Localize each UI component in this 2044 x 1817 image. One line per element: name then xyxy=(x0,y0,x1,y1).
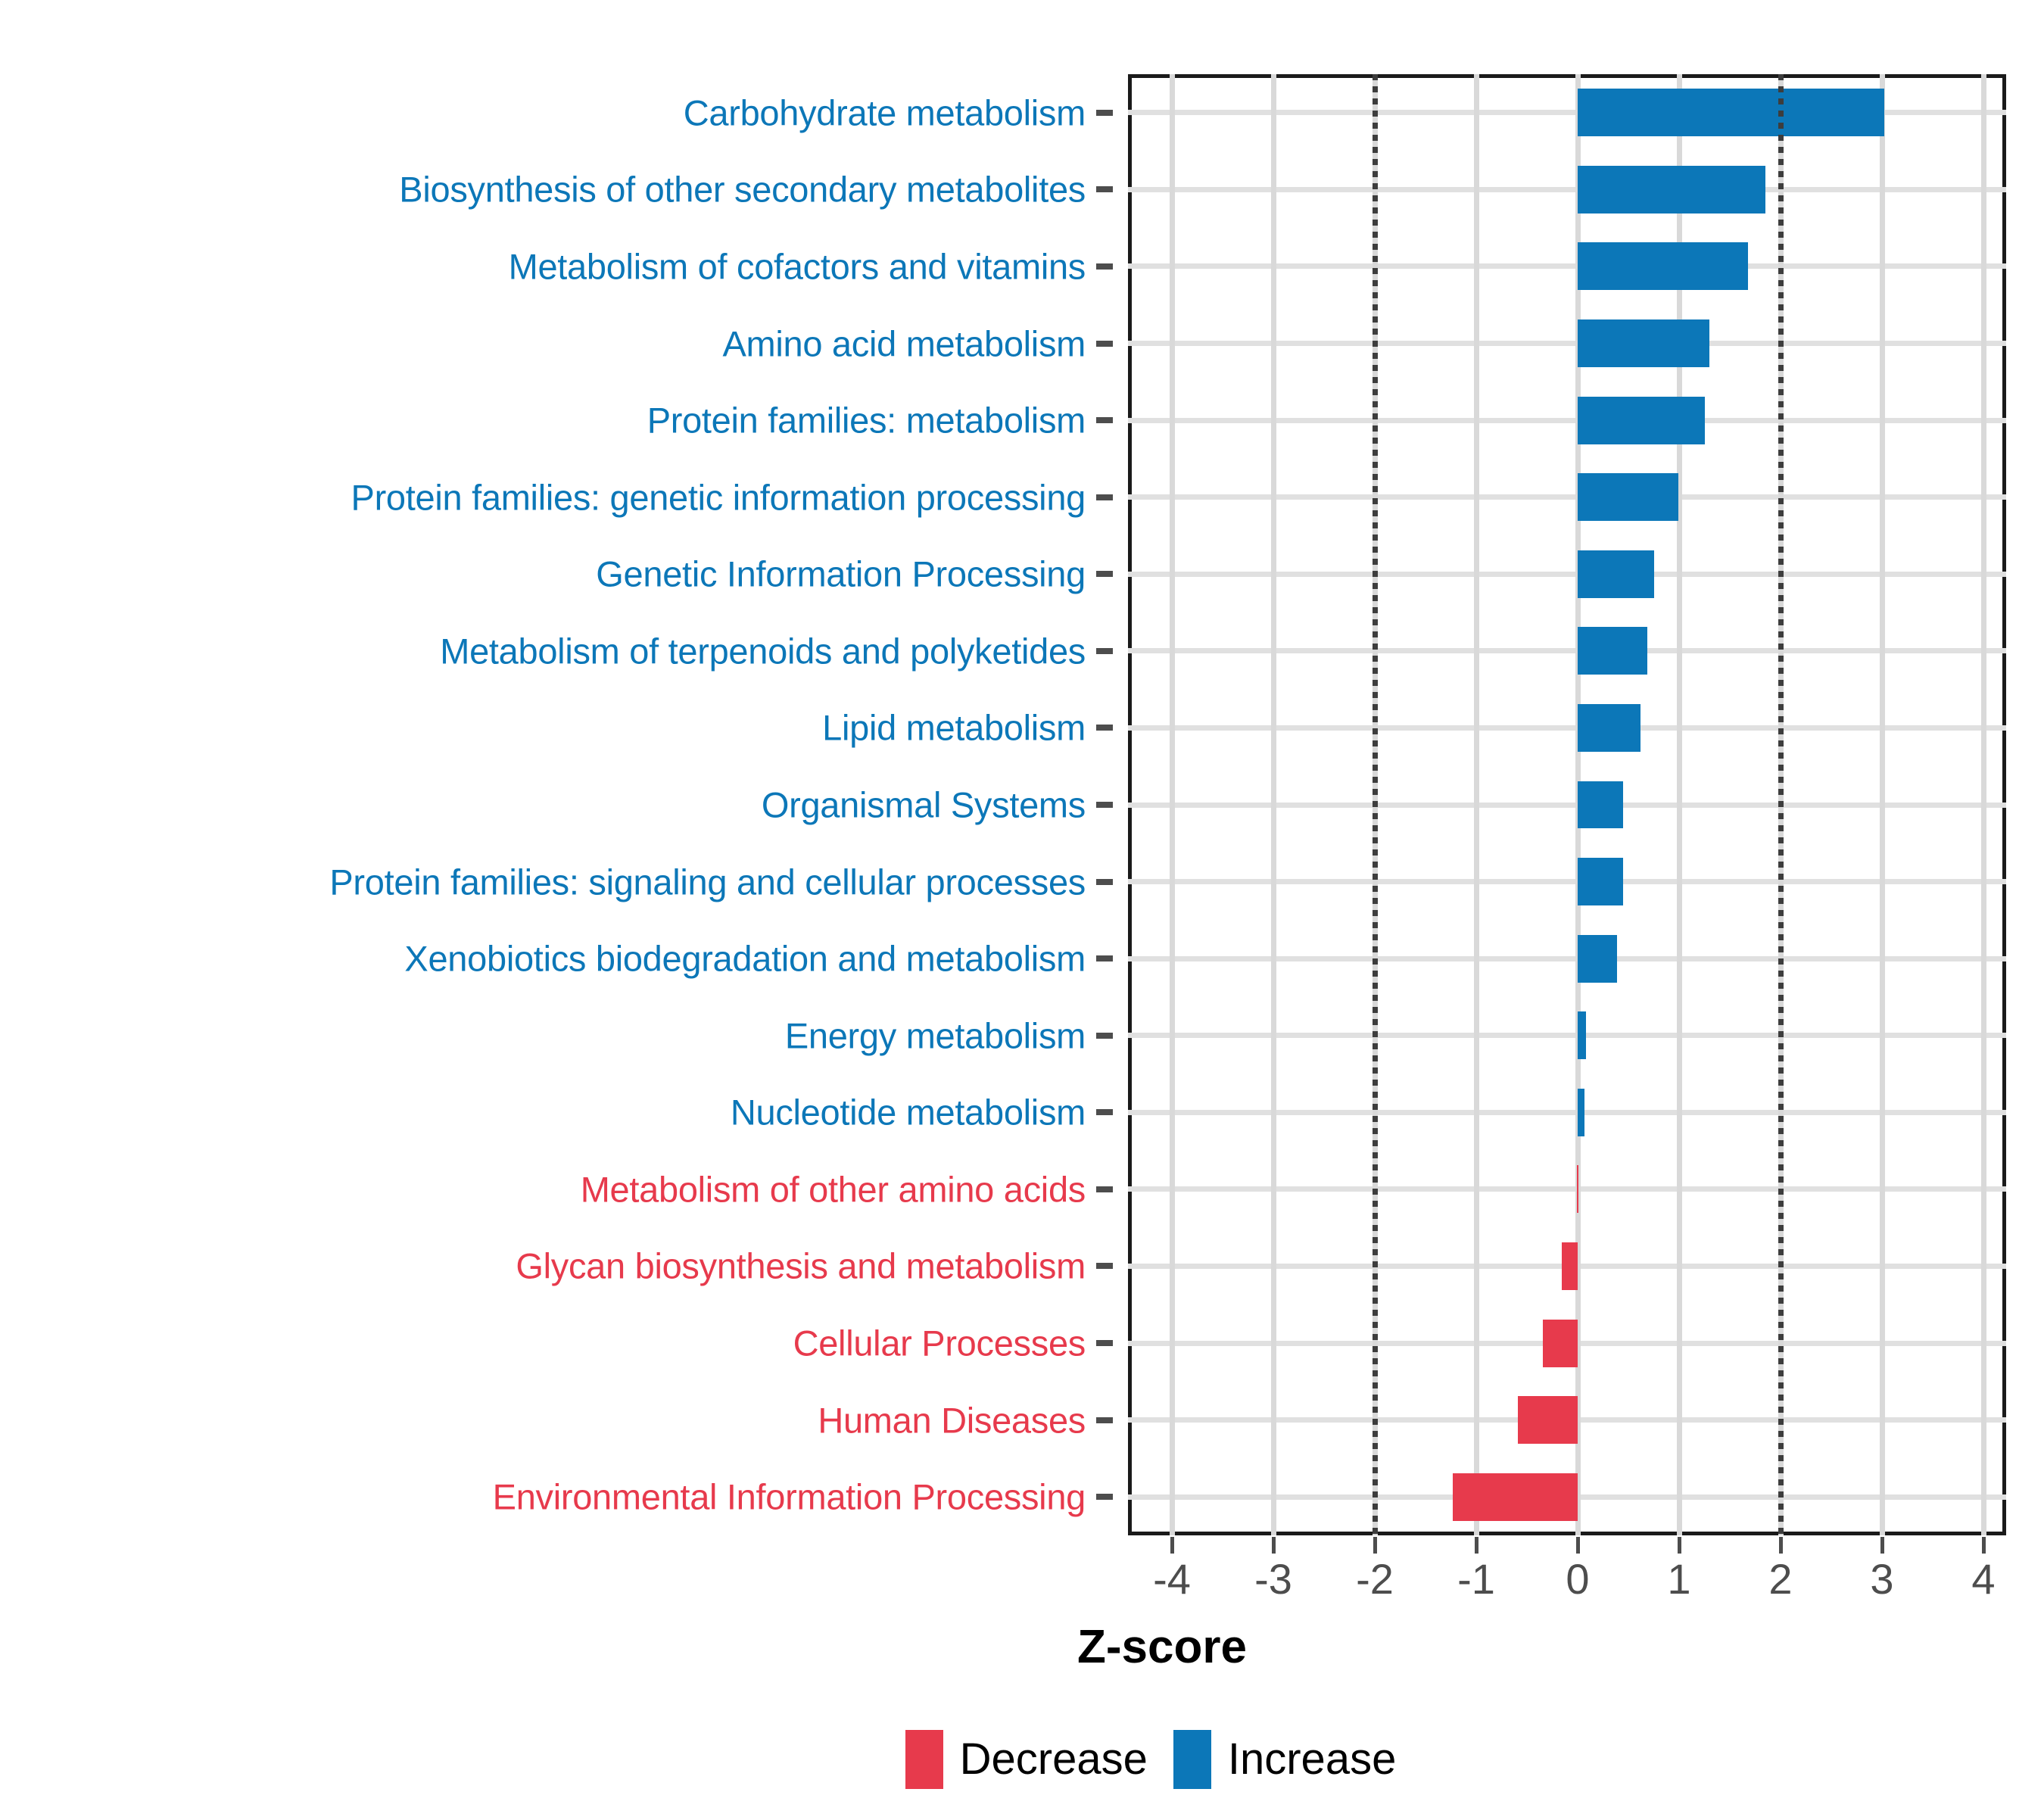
bar xyxy=(1578,1089,1584,1136)
x-axis-tick xyxy=(1678,1537,1681,1554)
x-axis-tick-label: -3 xyxy=(1254,1558,1292,1600)
threshold-line xyxy=(1778,74,1784,1535)
y-axis-label: Lipid metabolism xyxy=(822,710,1086,746)
bar xyxy=(1577,1165,1578,1213)
bar xyxy=(1578,319,1709,367)
y-axis-label: Metabolism of terpenoids and polyketides xyxy=(440,633,1086,669)
legend-label: Increase xyxy=(1228,1738,1396,1781)
y-axis-label: Xenobiotics biodegradation and metabolis… xyxy=(404,941,1086,977)
x-axis-tick xyxy=(1170,1537,1174,1554)
legend-label: Decrease xyxy=(960,1738,1148,1781)
x-axis-tick-label: -2 xyxy=(1356,1558,1394,1600)
gridline-vertical xyxy=(1677,74,1682,1535)
gridline-horizontal xyxy=(1128,1110,2006,1115)
y-axis-label: Nucleotide metabolism xyxy=(731,1095,1086,1130)
x-axis-tick xyxy=(1779,1537,1783,1554)
y-axis-tick xyxy=(1096,494,1113,500)
y-axis-label: Environmental Information Processing xyxy=(493,1479,1086,1515)
y-axis-tick xyxy=(1096,725,1113,731)
y-axis-tick xyxy=(1096,1033,1113,1039)
y-axis-tick xyxy=(1096,879,1113,885)
plot-area xyxy=(1128,74,2006,1535)
bar xyxy=(1578,781,1623,829)
gridline-horizontal xyxy=(1128,494,2006,500)
bar xyxy=(1578,627,1647,675)
x-axis-tick xyxy=(1373,1537,1377,1554)
y-axis-tick xyxy=(1096,648,1113,654)
bar xyxy=(1578,89,1884,136)
y-axis-label: Carbohydrate metabolism xyxy=(684,95,1086,130)
y-axis-tick xyxy=(1096,955,1113,961)
x-axis-tick xyxy=(1272,1537,1276,1554)
y-axis-label: Energy metabolism xyxy=(785,1018,1086,1053)
y-axis-label: Organismal Systems xyxy=(762,787,1086,823)
legend-item[interactable]: Decrease xyxy=(905,1730,1148,1789)
y-axis-label: Biosynthesis of other secondary metaboli… xyxy=(399,172,1086,207)
gridline-horizontal xyxy=(1128,1186,2006,1192)
y-axis-tick xyxy=(1096,1263,1113,1269)
bar xyxy=(1578,242,1748,290)
y-axis-label: Protein families: signaling and cellular… xyxy=(329,864,1086,899)
y-axis-tick xyxy=(1096,802,1113,808)
bar xyxy=(1578,473,1678,521)
y-axis-tick xyxy=(1096,417,1113,423)
gridline-horizontal xyxy=(1128,803,2006,808)
bar xyxy=(1578,1011,1586,1059)
y-axis-label: Genetic Information Processing xyxy=(596,556,1086,592)
bar xyxy=(1578,704,1640,752)
y-axis-tick xyxy=(1096,1417,1113,1423)
gridline-vertical xyxy=(1271,74,1276,1535)
bar xyxy=(1578,166,1765,213)
y-axis-tick xyxy=(1096,571,1113,577)
legend-swatch xyxy=(905,1730,943,1789)
gridline-horizontal xyxy=(1128,648,2006,653)
bar xyxy=(1578,935,1617,983)
bar xyxy=(1578,858,1623,905)
gridline-horizontal xyxy=(1128,725,2006,731)
y-axis-tick xyxy=(1096,263,1113,270)
x-axis-title: Z-score xyxy=(0,1620,2044,1674)
x-axis-tick-label: -1 xyxy=(1457,1558,1495,1600)
y-axis-tick xyxy=(1096,1494,1113,1500)
x-axis-title-text: Z-score xyxy=(1077,1621,1247,1673)
legend-swatch xyxy=(1173,1730,1211,1789)
y-axis-label: Metabolism of cofactors and vitamins xyxy=(509,248,1086,284)
x-axis-tick xyxy=(1880,1537,1884,1554)
x-axis-tick-label: 3 xyxy=(1870,1558,1893,1600)
bar xyxy=(1518,1396,1578,1444)
y-axis-tick xyxy=(1096,341,1113,347)
gridline-vertical xyxy=(1880,74,1885,1535)
x-axis-tick xyxy=(1576,1537,1580,1554)
gridline-vertical xyxy=(1474,74,1479,1535)
x-axis-tick-label: 0 xyxy=(1566,1558,1589,1600)
gridline-horizontal xyxy=(1128,879,2006,884)
bar xyxy=(1562,1242,1578,1290)
legend-item[interactable]: Increase xyxy=(1173,1730,1396,1789)
gridline-horizontal xyxy=(1128,418,2006,423)
y-axis-label: Human Diseases xyxy=(818,1402,1086,1438)
x-axis-tick-label: 4 xyxy=(1971,1558,1995,1600)
y-axis-label: Protein families: metabolism xyxy=(647,403,1086,438)
bar xyxy=(1543,1320,1578,1367)
chart-legend: DecreaseIncrease xyxy=(129,1730,2044,1789)
bar xyxy=(1578,397,1705,444)
gridline-vertical xyxy=(1981,74,1986,1535)
x-axis-tick-label: 1 xyxy=(1667,1558,1690,1600)
y-axis-label: Amino acid metabolism xyxy=(722,326,1086,361)
kegg-zscore-bar-chart: Carbohydrate metabolismBiosynthesis of o… xyxy=(0,0,2044,1817)
gridline-horizontal xyxy=(1128,956,2006,961)
y-axis-tick xyxy=(1096,110,1113,116)
y-axis-tick xyxy=(1096,186,1113,192)
gridline-horizontal xyxy=(1128,187,2006,192)
y-axis-tick xyxy=(1096,1109,1113,1115)
y-axis-label: Metabolism of other amino acids xyxy=(581,1171,1086,1207)
y-axis-category-labels: Carbohydrate metabolismBiosynthesis of o… xyxy=(0,74,1113,1535)
x-axis-tick-label: -4 xyxy=(1153,1558,1191,1600)
x-axis-tick xyxy=(1475,1537,1478,1554)
gridline-horizontal xyxy=(1128,341,2006,346)
bar xyxy=(1453,1473,1578,1521)
bar xyxy=(1578,550,1654,598)
threshold-line xyxy=(1373,74,1378,1535)
y-axis-tick xyxy=(1096,1340,1113,1346)
y-axis-label: Protein families: genetic information pr… xyxy=(351,479,1086,515)
gridline-vertical xyxy=(1170,74,1175,1535)
gridline-horizontal xyxy=(1128,1033,2006,1038)
y-axis-label: Glycan biosynthesis and metabolism xyxy=(516,1248,1086,1284)
y-axis-tick xyxy=(1096,1186,1113,1192)
gridline-horizontal xyxy=(1128,263,2006,269)
y-axis-label: Cellular Processes xyxy=(793,1326,1086,1361)
x-axis-tick xyxy=(1982,1537,1986,1554)
gridline-horizontal xyxy=(1128,572,2006,577)
x-axis-tick-label: 2 xyxy=(1768,1558,1792,1600)
